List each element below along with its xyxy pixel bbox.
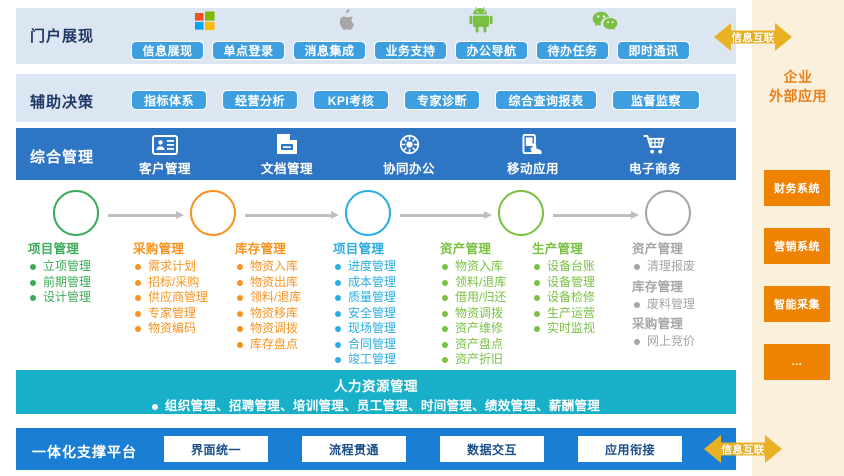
architecture-diagram: 企业 外部应用 财务系统 营销系统 智能采集 … 门户展现 <box>0 0 844 476</box>
platform-band-label: 一体化支撑平台 <box>32 442 137 462</box>
external-title-line1: 企业 <box>752 68 844 87</box>
category-item: 合同管理 <box>333 337 396 353</box>
hr-items-text: 组织管理、招聘管理、培训管理、员工管理、时间管理、绩效管理、薪酬管理 <box>165 399 600 413</box>
comprehensive-item-label-3: 移动应用 <box>478 158 588 177</box>
platform-button-0[interactable]: 界面统一 <box>164 436 268 462</box>
external-box-more[interactable]: … <box>764 344 830 380</box>
portal-button-0[interactable]: 信息展现 <box>131 41 204 60</box>
category-item: 设备台账 <box>532 259 595 275</box>
flow-arrow-0 <box>108 211 184 219</box>
comprehensive-item-collaboration[interactable]: 协同办公 <box>354 133 464 177</box>
category-block-6: 资产管理 清理报废 库存管理 废料管理 采购管理 网上竞价 <box>632 238 695 350</box>
category-title-5: 生产管理 <box>532 238 595 257</box>
category-list-3: 进度管理 成本管理 质量管理 安全管理 现场管理 合同管理 竣工管理 <box>333 259 396 368</box>
lifecycle-stage-3[interactable]: 营 <box>498 190 550 236</box>
comprehensive-item-label-2: 协同办公 <box>354 158 464 177</box>
category-block-4: 资产管理 物资入库 领料/退库 借用/归还 物资调拨 资产维修 资产盘点 资产折… <box>440 238 506 368</box>
category-title-3: 项目管理 <box>333 238 396 257</box>
category-item: 资产折旧 <box>440 352 506 368</box>
info-interconnect-arrow-bottom: 信息互联 <box>704 432 782 466</box>
lifecycle-stage-1[interactable]: 采 <box>190 190 242 236</box>
lifecycle-glyph-2: 建 <box>360 201 377 226</box>
flow-arrow-2 <box>400 211 492 219</box>
apple-icon <box>336 8 358 34</box>
comprehensive-item-customer[interactable]: 客户管理 <box>110 133 220 177</box>
portal-button-5[interactable]: 待办任务 <box>536 41 609 60</box>
flow-arrow-3 <box>553 211 639 219</box>
collaboration-icon <box>354 133 464 155</box>
category-item: 物资入库 <box>440 259 506 275</box>
decision-button-1[interactable]: 经营分析 <box>222 90 298 110</box>
category-item: 清理报废 <box>632 259 695 275</box>
category-title-1: 采购管理 <box>133 238 208 257</box>
comprehensive-item-mobile[interactable]: 移动应用 <box>478 133 588 177</box>
category-item: 库存盘点 <box>235 337 301 353</box>
external-title-line2: 外部应用 <box>752 87 844 106</box>
category-item: 生产运营 <box>532 306 595 322</box>
platform-button-2[interactable]: 数据交互 <box>440 436 544 462</box>
info-interconnect-label-top: 信息互联 <box>714 20 792 54</box>
category-item: 物资入库 <box>235 259 301 275</box>
category-item: 物资编码 <box>133 321 208 337</box>
category-title-0: 项目管理 <box>28 238 91 257</box>
category-item: 安全管理 <box>333 306 396 322</box>
category-title-4: 资产管理 <box>440 238 506 257</box>
category-item: 物资调拨 <box>235 321 301 337</box>
category-item: 设计管理 <box>28 290 91 306</box>
portal-button-6[interactable]: 即时通讯 <box>617 41 690 60</box>
lifecycle-glyph-3: 营 <box>513 201 530 226</box>
comprehensive-item-label-1: 文档管理 <box>232 158 342 177</box>
category-item: 领料/退库 <box>235 290 301 306</box>
platform-button-1[interactable]: 流程贯通 <box>302 436 406 462</box>
category-block-2: 库存管理 物资入库 物资出库 领料/退库 物资移库 物资调拨 库存盘点 <box>235 238 301 352</box>
category-item: 网上竞价 <box>632 334 695 350</box>
category-item: 资产盘点 <box>440 337 506 353</box>
lifecycle-stage-0[interactable]: 规 <box>53 190 105 236</box>
category-list-1: 需求计划 招标/采购 供应商管理 专家管理 物资编码 <box>133 259 208 337</box>
category-subtitle-procurement: 采购管理 <box>632 313 695 332</box>
hr-items: 组织管理、招聘管理、培训管理、员工管理、时间管理、绩效管理、薪酬管理 <box>16 395 736 414</box>
comprehensive-item-document[interactable]: 文档管理 <box>232 133 342 177</box>
external-box-finance[interactable]: 财务系统 <box>764 170 830 206</box>
external-box-marketing[interactable]: 营销系统 <box>764 228 830 264</box>
lifecycle-glyph-4: 退 <box>660 201 677 226</box>
category-item: 专家管理 <box>133 306 208 322</box>
category-list-5: 设备台账 设备管理 设备检修 生产运营 实时监视 <box>532 259 595 337</box>
category-block-3: 项目管理 进度管理 成本管理 质量管理 安全管理 现场管理 合同管理 竣工管理 <box>333 238 396 368</box>
portal-button-1[interactable]: 单点登录 <box>212 41 285 60</box>
category-item: 物资移库 <box>235 306 301 322</box>
category-block-1: 采购管理 需求计划 招标/采购 供应商管理 专家管理 物资编码 <box>133 238 208 337</box>
lifecycle-stage-4[interactable]: 退 <box>645 190 697 236</box>
category-list-6: 清理报废 <box>632 259 695 275</box>
category-item: 借用/归还 <box>440 290 506 306</box>
category-title-2: 库存管理 <box>235 238 301 257</box>
category-sublist-procurement: 网上竞价 <box>632 334 695 350</box>
external-application-title: 企业 外部应用 <box>752 68 844 106</box>
category-sublist-inventory: 废料管理 <box>632 297 695 313</box>
category-title-6: 资产管理 <box>632 238 695 257</box>
lifecycle-glyph-1: 采 <box>205 201 222 226</box>
android-icon <box>469 7 493 33</box>
category-item: 前期管理 <box>28 275 91 291</box>
wechat-icon <box>592 11 618 33</box>
windows-icon <box>194 10 216 32</box>
decision-button-2[interactable]: KPI考核 <box>313 90 389 110</box>
portal-button-4[interactable]: 办公导航 <box>455 41 528 60</box>
hr-bullet-icon <box>152 404 158 410</box>
category-item: 招标/采购 <box>133 275 208 291</box>
flow-arrow-1 <box>245 211 339 219</box>
platform-button-3[interactable]: 应用衔接 <box>578 436 682 462</box>
category-item: 设备检修 <box>532 290 595 306</box>
category-item: 资产维修 <box>440 321 506 337</box>
decision-button-0[interactable]: 指标体系 <box>131 90 207 110</box>
comprehensive-band-label: 综合管理 <box>30 146 94 167</box>
comprehensive-item-ecommerce[interactable]: 电子商务 <box>600 133 710 177</box>
decision-button-3[interactable]: 专家诊断 <box>404 90 480 110</box>
category-item: 质量管理 <box>333 290 396 306</box>
comprehensive-item-label-4: 电子商务 <box>600 158 710 177</box>
category-subtitle-inventory: 库存管理 <box>632 276 695 295</box>
category-item: 进度管理 <box>333 259 396 275</box>
category-item: 物资调拨 <box>440 306 506 322</box>
hr-title: 人力资源管理 <box>16 375 736 395</box>
mobile-touch-icon <box>478 133 588 155</box>
category-item: 实时监视 <box>532 321 595 337</box>
lifecycle-glyph-0: 规 <box>68 201 85 226</box>
contact-card-icon <box>110 133 220 155</box>
category-item: 物资出库 <box>235 275 301 291</box>
decision-button-5[interactable]: 监督监察 <box>612 90 700 110</box>
portal-band-label: 门户展现 <box>30 25 94 46</box>
category-list-4: 物资入库 领料/退库 借用/归还 物资调拨 资产维修 资产盘点 资产折旧 <box>440 259 506 368</box>
category-block-0: 项目管理 立项管理 前期管理 设计管理 <box>28 238 91 306</box>
category-list-2: 物资入库 物资出库 领料/退库 物资移库 物资调拨 库存盘点 <box>235 259 301 352</box>
category-item: 设备管理 <box>532 275 595 291</box>
category-item: 现场管理 <box>333 321 396 337</box>
category-item: 供应商管理 <box>133 290 208 306</box>
category-item: 竣工管理 <box>333 352 396 368</box>
category-item: 领料/退库 <box>440 275 506 291</box>
category-item: 成本管理 <box>333 275 396 291</box>
document-icon <box>232 133 342 155</box>
category-item: 需求计划 <box>133 259 208 275</box>
external-box-smart-collection[interactable]: 智能采集 <box>764 286 830 322</box>
category-item: 立项管理 <box>28 259 91 275</box>
decision-band-label: 辅助决策 <box>30 91 94 112</box>
category-item: 废料管理 <box>632 297 695 313</box>
category-list-0: 立项管理 前期管理 设计管理 <box>28 259 91 306</box>
portal-button-3[interactable]: 业务支持 <box>374 41 447 60</box>
comprehensive-item-label-0: 客户管理 <box>110 158 220 177</box>
decision-button-4[interactable]: 综合查询报表 <box>495 90 597 110</box>
portal-button-2[interactable]: 消息集成 <box>293 41 366 60</box>
category-block-5: 生产管理 设备台账 设备管理 设备检修 生产运营 实时监视 <box>532 238 595 337</box>
shopping-cart-icon <box>600 133 710 155</box>
info-interconnect-label-bottom: 信息互联 <box>704 432 782 466</box>
info-interconnect-arrow-top: 信息互联 <box>714 20 792 54</box>
lifecycle-stage-2[interactable]: 建 <box>345 190 397 236</box>
